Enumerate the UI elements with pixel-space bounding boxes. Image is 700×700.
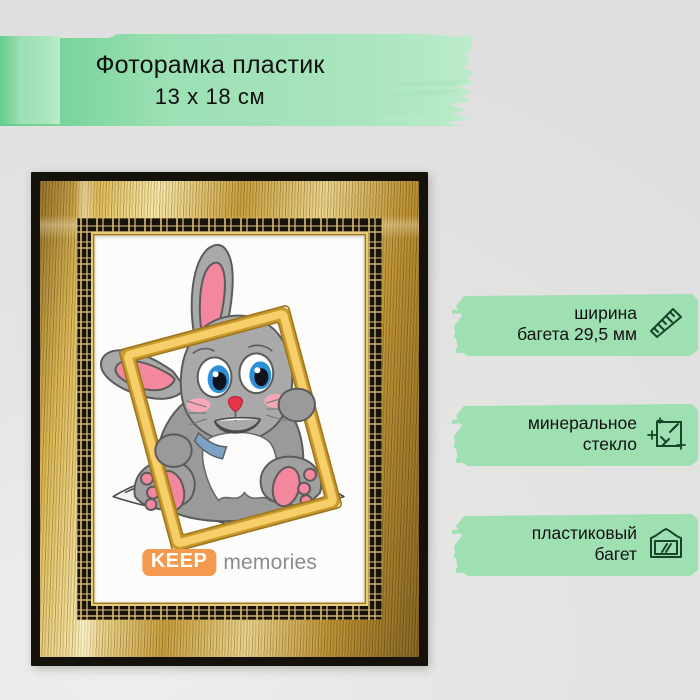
page-title: Фоторамка пластик [95, 50, 324, 80]
badge-content: пластиковый багет [452, 506, 700, 582]
header-banner: Фоторамка пластик 13 x 18 см [0, 32, 472, 128]
logo-memories-text: memories [223, 551, 317, 575]
photo-frame[interactable]: KEEP memories [31, 172, 428, 666]
product-card: Фоторамка пластик 13 x 18 см [0, 0, 700, 700]
banner-text-block: Фоторамка пластик 13 x 18 см [0, 32, 420, 128]
glass-icon [646, 414, 686, 454]
badge-label: пластиковый багет [532, 523, 637, 566]
ruler-icon [646, 304, 686, 344]
brand-logo: KEEP memories [142, 549, 317, 576]
badge-label: ширина багета 29,5 мм [517, 303, 637, 346]
logo-keep-text: KEEP [142, 549, 216, 576]
badge-frame-width[interactable]: ширина багета 29,5 мм [452, 286, 700, 362]
badge-mineral-glass[interactable]: минеральное стекло [452, 396, 700, 472]
badge-plastic-moulding[interactable]: пластиковый багет [452, 506, 700, 582]
page-subtitle: 13 x 18 см [155, 84, 265, 110]
bunny-illustration: KEEP memories [95, 236, 364, 602]
badge-label: минеральное стекло [528, 413, 637, 456]
bunny-artwork-svg [95, 236, 364, 602]
badge-content: минеральное стекло [452, 396, 700, 472]
badge-content: ширина багета 29,5 мм [452, 286, 700, 362]
picture-frame-icon [646, 524, 686, 564]
